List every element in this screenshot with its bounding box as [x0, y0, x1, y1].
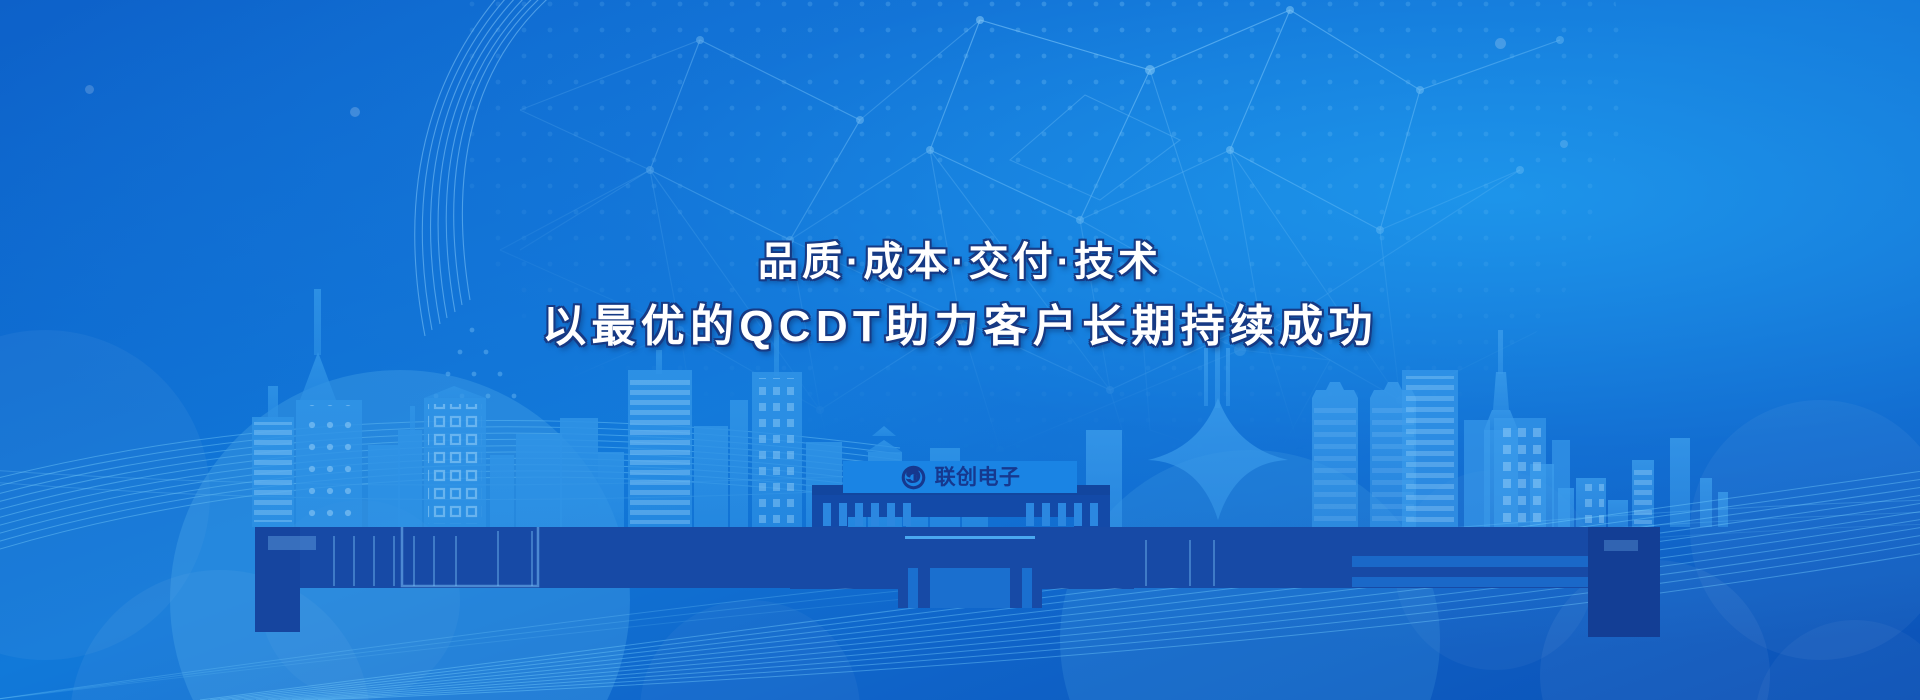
- headline-block: 品质·成本·交付·技术 以最优的QCDT助力客户长期持续成功: [0, 238, 1920, 354]
- hero-banner: 联创电子: [0, 0, 1920, 700]
- company-logo: 联创电子: [843, 461, 1077, 493]
- company-logo-text: 联创电子: [935, 467, 1021, 488]
- headline-line-1: 品质·成本·交付·技术: [0, 238, 1920, 288]
- swirl-circle-logo-icon: [900, 464, 927, 491]
- headline-line-2: 以最优的QCDT助力客户长期持续成功: [0, 300, 1920, 355]
